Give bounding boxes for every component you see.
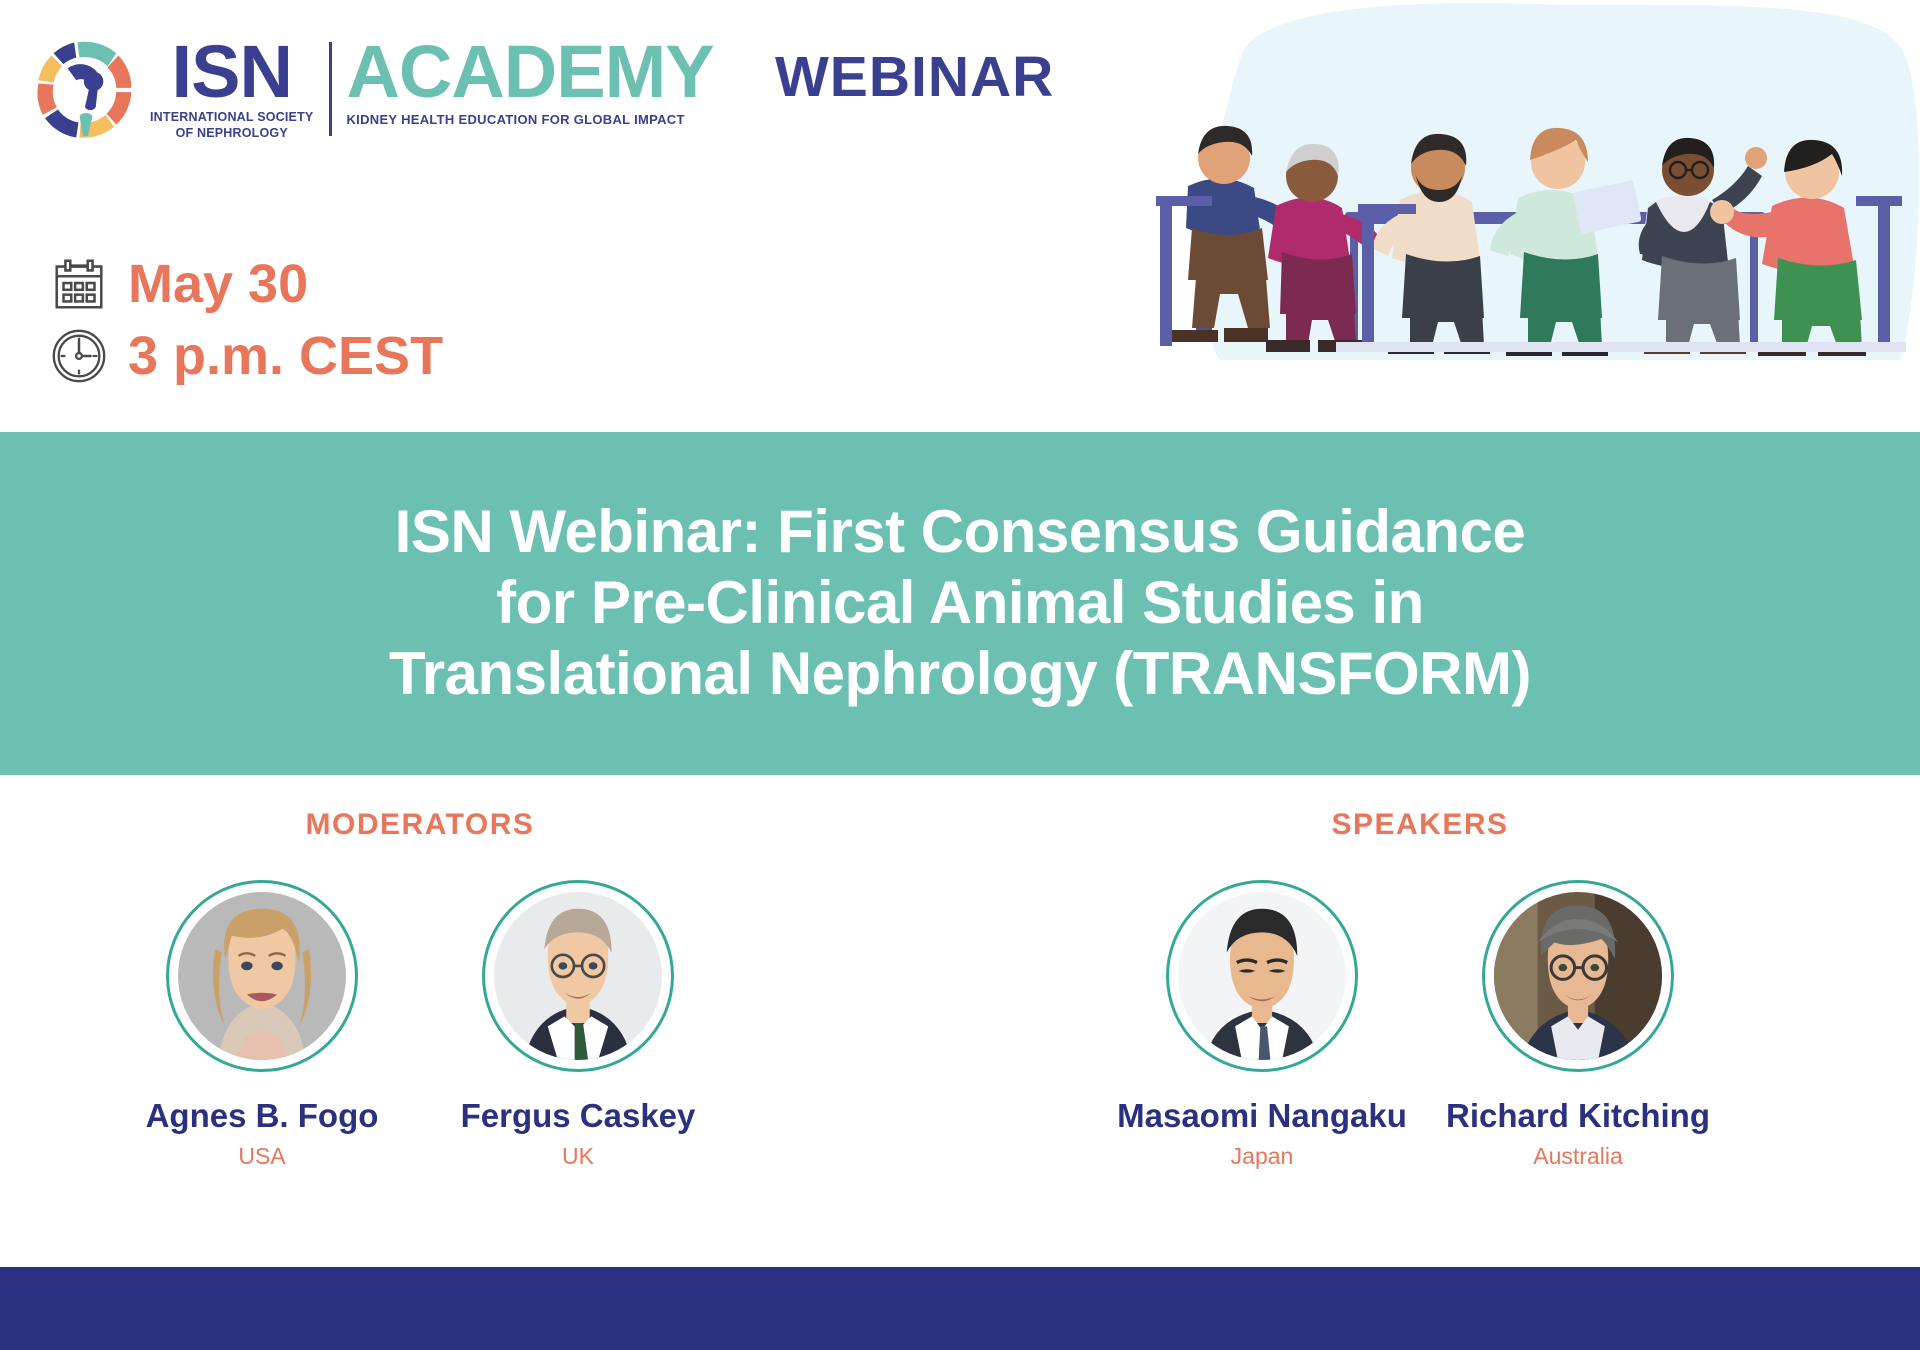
panel-discussion-illustration <box>1100 0 1920 435</box>
avatar-ring <box>482 880 674 1072</box>
avatar <box>1494 892 1662 1060</box>
isn-academy-logo: ISN INTERNATIONAL SOCIETY OF NEPHROLOGY … <box>32 36 714 144</box>
event-datetime-block: May 30 3 p.m. CEST <box>48 248 443 392</box>
person-name: Fergus Caskey <box>461 1098 696 1134</box>
person-card: Fergus Caskey UK <box>453 880 703 1170</box>
avatar <box>1178 892 1346 1060</box>
avatar-ring <box>1482 880 1674 1072</box>
person-card: Richard Kitching Australia <box>1453 880 1703 1170</box>
person-name: Agnes B. Fogo <box>146 1098 379 1134</box>
person-card: Masaomi Nangaku Japan <box>1137 880 1387 1170</box>
speakers-label: SPEAKERS <box>1080 808 1760 842</box>
logo-divider <box>329 42 332 135</box>
webinar-title-line3: Translational Nephrology (TRANSFORM) <box>389 640 1531 707</box>
clock-icon <box>48 325 110 387</box>
person-name: Masaomi Nangaku <box>1117 1098 1407 1134</box>
person-country: USA <box>238 1143 285 1170</box>
webinar-title: ISN Webinar: First Consensus Guidance fo… <box>299 497 1621 709</box>
logo-academy-tagline: KIDNEY HEALTH EDUCATION FOR GLOBAL IMPAC… <box>346 112 713 127</box>
logo-academy-wordmark: ACADEMY <box>346 38 713 106</box>
avatar-ring <box>1166 880 1358 1072</box>
person-country: Japan <box>1231 1143 1294 1170</box>
isn-circular-logo-icon <box>32 36 140 144</box>
event-time-row: 3 p.m. CEST <box>48 320 443 392</box>
event-date: May 30 <box>128 257 308 311</box>
person-name: Richard Kitching <box>1446 1098 1710 1134</box>
moderators-list: Agnes B. Fogo USA <box>120 880 720 1170</box>
footer-bar <box>0 1267 1920 1350</box>
person-card: Agnes B. Fogo USA <box>137 880 387 1170</box>
calendar-icon <box>48 253 110 315</box>
webinar-title-line1: ISN Webinar: First Consensus Guidance <box>395 498 1526 565</box>
logo-isn-subtitle: INTERNATIONAL SOCIETY OF NEPHROLOGY <box>150 110 313 141</box>
logo-isn-subtitle-line1: INTERNATIONAL SOCIETY <box>150 110 313 124</box>
webinar-eyebrow: WEBINAR <box>775 44 1054 110</box>
webinar-title-banner: ISN Webinar: First Consensus Guidance fo… <box>0 432 1920 775</box>
person-country: UK <box>562 1143 594 1170</box>
logo-isn-wordmark: ISN <box>172 38 292 106</box>
avatar-ring <box>166 880 358 1072</box>
event-date-row: May 30 <box>48 248 443 320</box>
logo-isn-subtitle-line2: OF NEPHROLOGY <box>176 126 288 140</box>
person-country: Australia <box>1533 1143 1622 1170</box>
event-time: 3 p.m. CEST <box>128 329 443 383</box>
avatar <box>494 892 662 1060</box>
webinar-title-line2: for Pre-Clinical Animal Studies in <box>496 569 1424 636</box>
moderators-section: MODERATORS <box>120 808 720 1170</box>
speakers-section: SPEAKERS <box>1080 808 1760 1170</box>
speakers-list: Masaomi Nangaku Japan <box>1080 880 1760 1170</box>
moderators-label: MODERATORS <box>120 808 720 842</box>
avatar <box>178 892 346 1060</box>
